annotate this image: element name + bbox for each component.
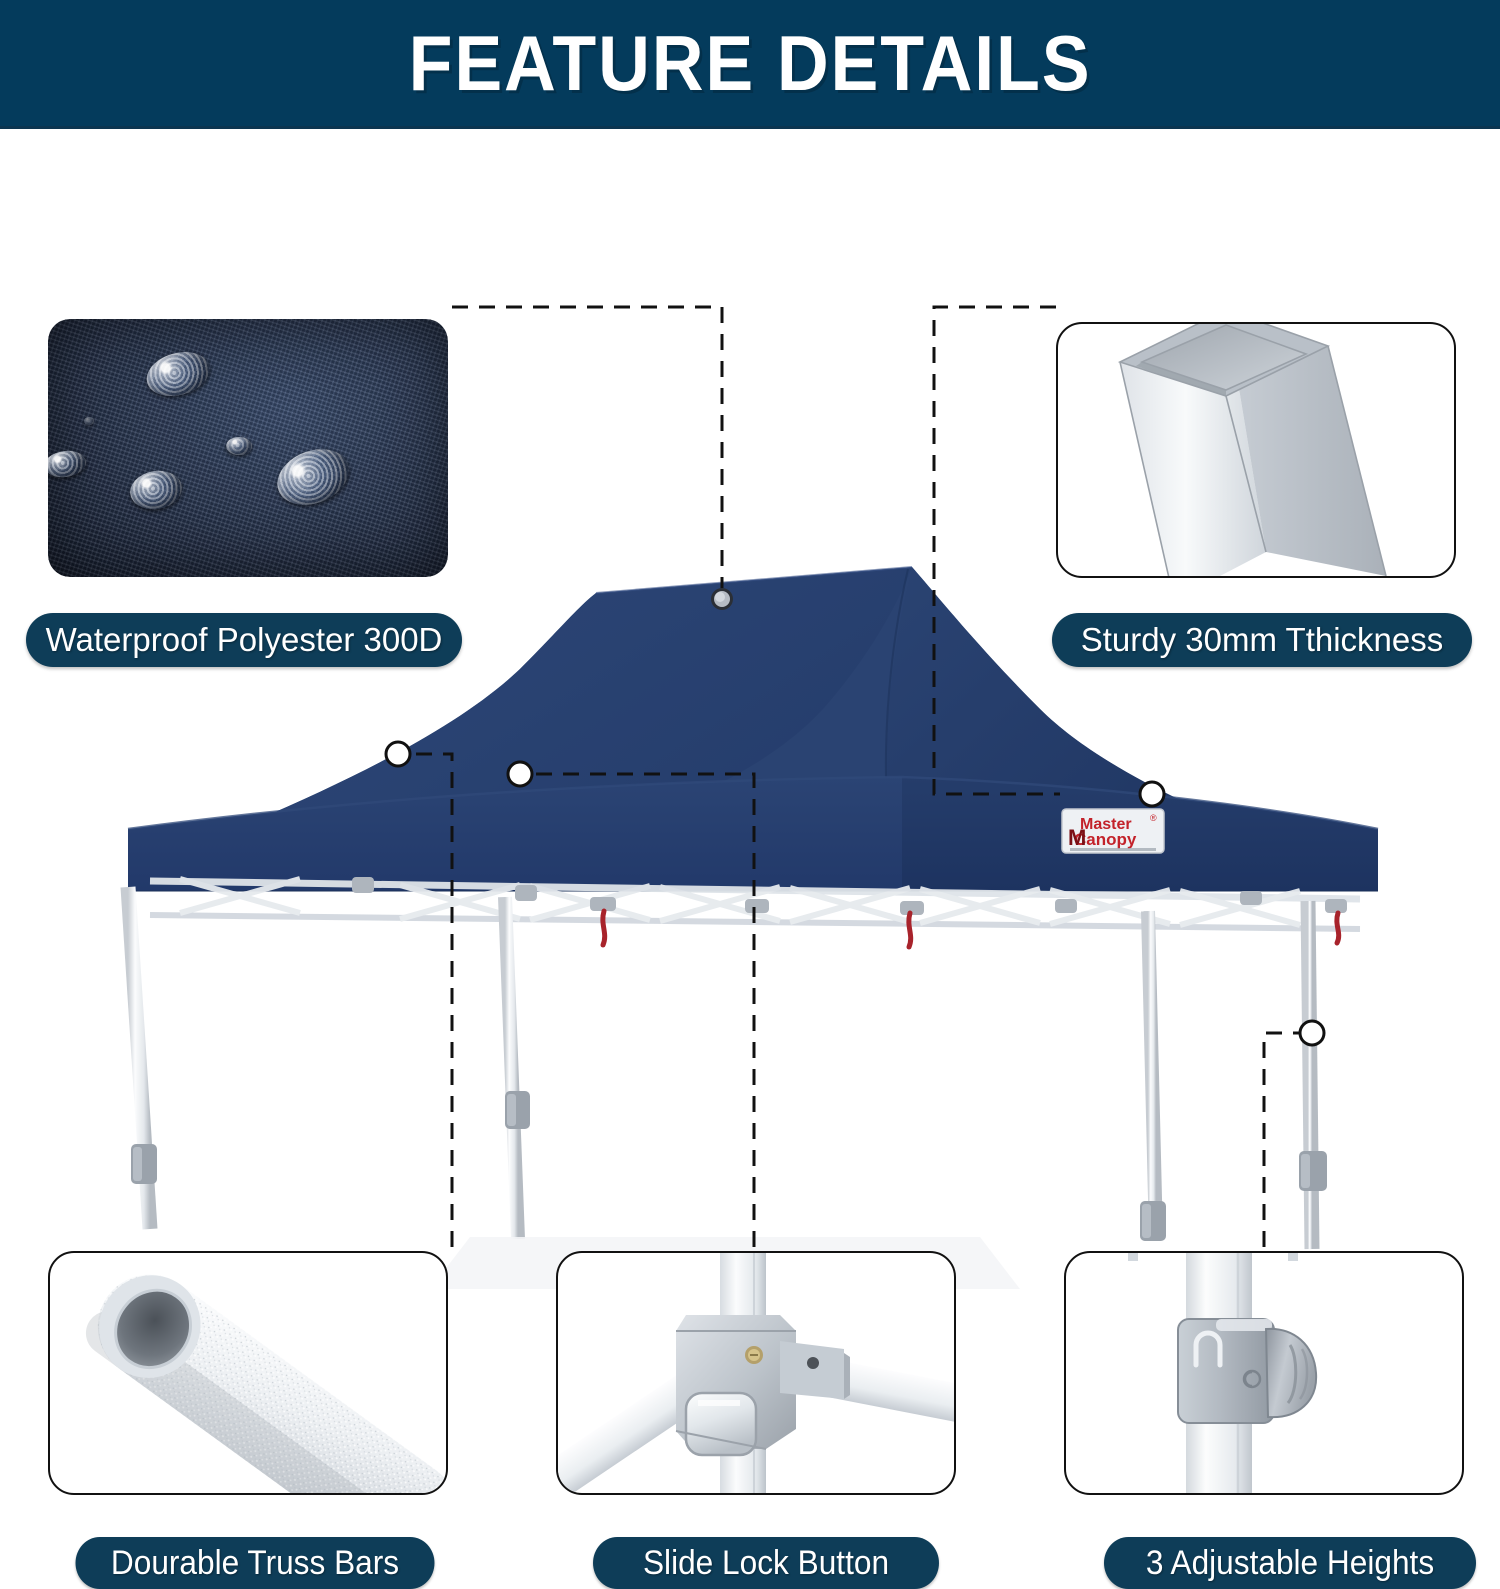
slide-lock-drawing <box>558 1253 954 1493</box>
label-waterproof: Waterproof Polyester 300D <box>26 613 462 667</box>
label-adjustable-heights: 3 Adjustable Heights <box>1104 1537 1476 1589</box>
height-adjuster-drawing <box>1066 1253 1462 1493</box>
svg-text:M: M <box>1068 825 1086 850</box>
square-tube-drawing <box>1058 324 1454 576</box>
inset-slide-lock <box>556 1251 956 1495</box>
canopy-vent-grommet <box>711 588 733 610</box>
label-thickness: Sturdy 30mm Tthickness <box>1052 613 1472 667</box>
truss-bar-drawing <box>50 1253 446 1493</box>
label-truss-bars: Dourable Truss Bars <box>76 1537 435 1589</box>
inset-truss-bar <box>48 1251 448 1495</box>
canopy-leg-inner-right <box>1140 911 1166 1241</box>
brand-logo-patch: Master Canopy M ® <box>1062 809 1164 853</box>
page-title: FEATURE DETAILS <box>409 18 1092 109</box>
header-bar: FEATURE DETAILS <box>0 0 1500 126</box>
label-slide-lock: Slide Lock Button <box>593 1537 939 1589</box>
feature-diagram-stage: Master Canopy M ® <box>0 129 1500 1468</box>
canopy-leg-left <box>128 887 157 1229</box>
svg-text:®: ® <box>1150 813 1157 823</box>
inset-waterproof-fabric <box>48 319 448 577</box>
water-droplet <box>84 417 94 425</box>
inset-height-adjuster <box>1064 1251 1464 1495</box>
canopy-leg-right <box>1299 901 1327 1249</box>
canopy-leg-inner-left <box>505 897 530 1239</box>
water-droplet <box>226 437 252 455</box>
inset-square-steel-tube <box>1056 322 1456 578</box>
